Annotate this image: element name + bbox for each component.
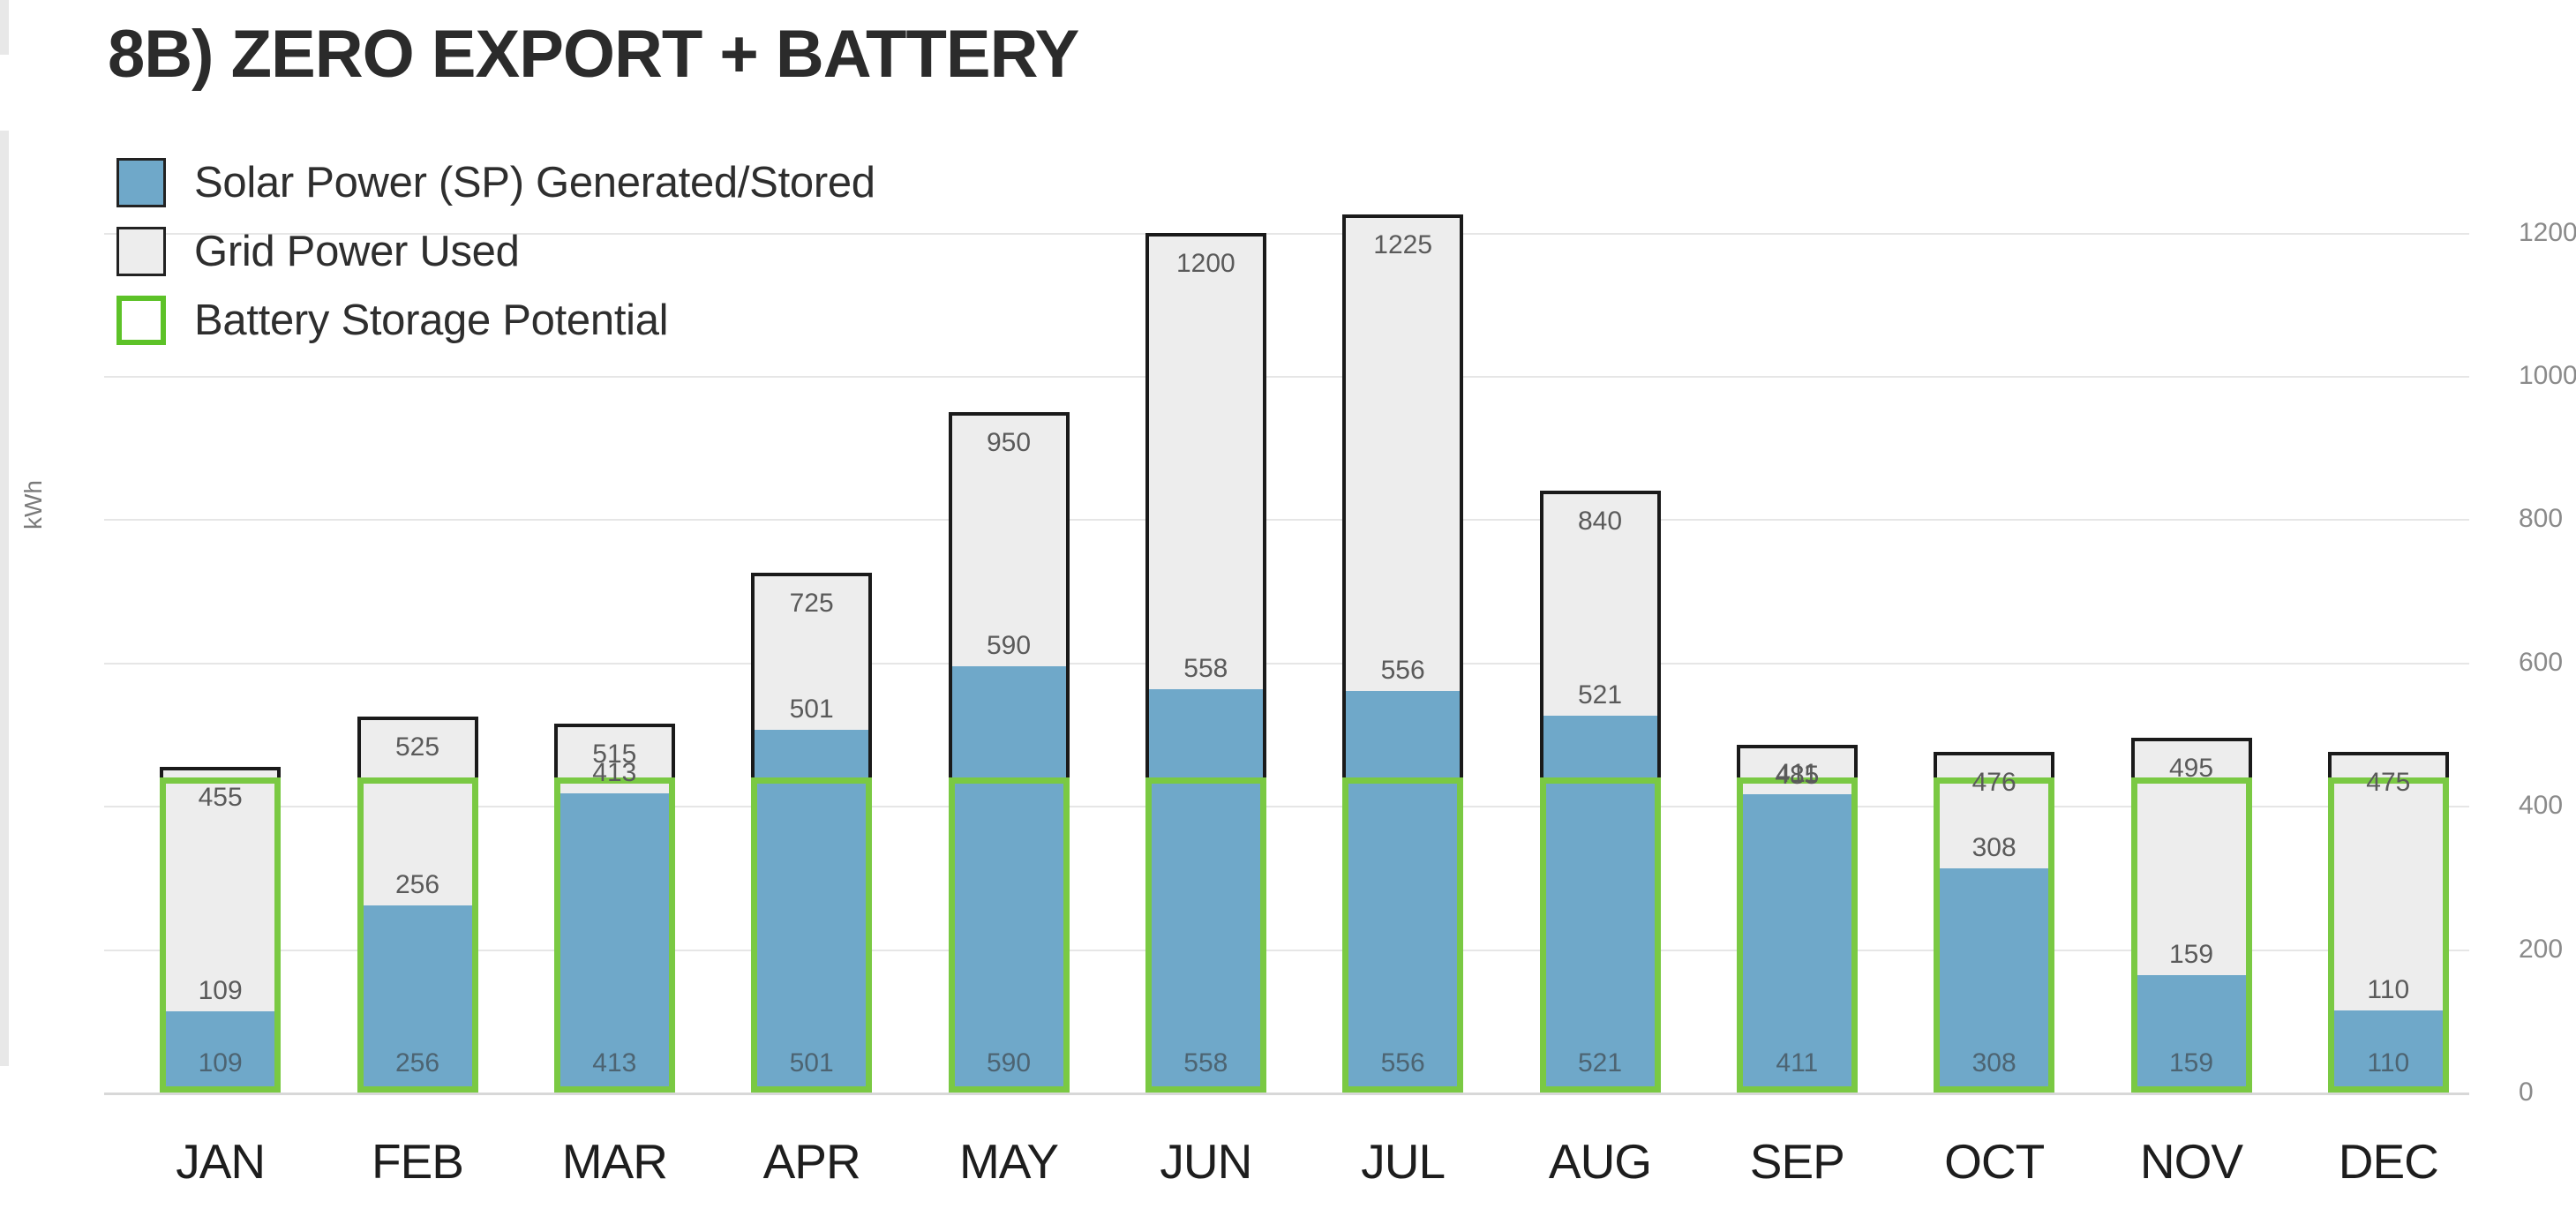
bar-segment-solar[interactable] — [558, 793, 672, 1089]
x-axis-label-aug: AUG — [1528, 1133, 1673, 1190]
bar-solar-label-bottom: 411 — [1740, 1048, 1854, 1078]
x-axis-label-mar: MAR — [542, 1133, 687, 1190]
battery-swatch-icon — [116, 296, 166, 345]
bar-total-label: 725 — [755, 589, 868, 619]
x-axis-label-jun: JUN — [1133, 1133, 1279, 1190]
bar-total-label: 476 — [1937, 768, 2051, 798]
bar-segment-solar[interactable] — [952, 666, 1066, 1089]
bar-solar-label-top: 110 — [2332, 975, 2445, 1005]
bar-total-label: 525 — [361, 732, 475, 762]
bar-group-may[interactable]: 950590590MAY — [949, 412, 1070, 1093]
y-tick-label-0: 0 — [2519, 1078, 2534, 1108]
legend-label-solar: Solar Power (SP) Generated/Stored — [194, 158, 875, 207]
bar-group-jan[interactable]: 455109109JAN — [160, 767, 281, 1093]
edge-rule-mid — [0, 131, 9, 1066]
x-axis-label-may: MAY — [936, 1133, 1082, 1190]
chart-legend: Solar Power (SP) Generated/Stored Grid P… — [116, 148, 875, 355]
bar-stack[interactable]: 525256256 — [357, 717, 478, 1093]
bar-segment-solar[interactable] — [1740, 794, 1854, 1089]
bar-segment-solar[interactable] — [755, 730, 868, 1089]
bar-total-label: 475 — [2332, 768, 2445, 798]
bar-solar-label-bottom: 413 — [558, 1048, 672, 1078]
bar-solar-label-bottom: 590 — [952, 1048, 1066, 1078]
bar-total-label: 1200 — [1149, 249, 1263, 279]
x-axis-label-jul: JUL — [1330, 1133, 1476, 1190]
x-axis-label-jan: JAN — [147, 1133, 293, 1190]
bar-solar-label-top: 109 — [163, 976, 277, 1006]
bar-stack[interactable]: 515413413 — [554, 724, 675, 1093]
y-tick-label-800: 800 — [2519, 504, 2563, 534]
bar-solar-label-bottom: 159 — [2135, 1048, 2249, 1078]
bar-group-dec[interactable]: 475110110DEC — [2328, 752, 2449, 1093]
y-axis-label: kWh — [19, 480, 48, 529]
y-tick-label-1200: 1200 — [2519, 218, 2576, 248]
x-axis-label-nov: NOV — [2119, 1133, 2264, 1190]
x-axis-label-feb: FEB — [345, 1133, 491, 1190]
legend-item-grid[interactable]: Grid Power Used — [116, 217, 875, 286]
bar-group-apr[interactable]: 725501501APR — [751, 573, 872, 1093]
bar-solar-label-bottom: 109 — [163, 1048, 277, 1078]
y-tick-label-200: 200 — [2519, 935, 2563, 965]
y-tick-label-400: 400 — [2519, 791, 2563, 821]
bar-stack[interactable]: 475110110 — [2328, 752, 2449, 1093]
bar-solar-label-bottom: 501 — [755, 1048, 868, 1078]
bar-solar-label-top: 556 — [1346, 656, 1460, 686]
x-axis-label-apr: APR — [739, 1133, 884, 1190]
bar-solar-label-bottom: 308 — [1937, 1048, 2051, 1078]
solar-swatch-icon — [116, 158, 166, 207]
bar-stack[interactable]: 950590590 — [949, 412, 1070, 1093]
bar-total-label: 455 — [163, 783, 277, 813]
bar-stack[interactable]: 840521521 — [1540, 491, 1661, 1093]
bar-group-oct[interactable]: 476308308OCT — [1934, 752, 2054, 1093]
bar-solar-label-top: 558 — [1149, 654, 1263, 684]
bar-segment-solar[interactable] — [1543, 716, 1657, 1089]
bar-solar-label-bottom: 256 — [361, 1048, 475, 1078]
x-axis-label-sep: SEP — [1724, 1133, 1870, 1190]
bar-group-mar[interactable]: 515413413MAR — [554, 724, 675, 1093]
bar-solar-label-top: 501 — [755, 695, 868, 725]
bar-stack[interactable]: 495159159 — [2131, 738, 2252, 1093]
y-tick-label-1000: 1000 — [2519, 361, 2576, 391]
y-tick-label-600: 600 — [2519, 648, 2563, 678]
legend-item-battery[interactable]: Battery Storage Potential — [116, 286, 875, 355]
bar-solar-label-bottom: 556 — [1346, 1048, 1460, 1078]
x-axis-label-oct: OCT — [1921, 1133, 2067, 1190]
bar-stack[interactable]: 485411411 — [1737, 745, 1858, 1093]
bar-total-label: 950 — [952, 428, 1066, 458]
legend-item-solar[interactable]: Solar Power (SP) Generated/Stored — [116, 148, 875, 217]
bar-solar-label-top: 413 — [558, 758, 672, 788]
bar-segment-solar[interactable] — [1346, 691, 1460, 1089]
bar-stack[interactable]: 725501501 — [751, 573, 872, 1093]
bar-solar-label-bottom: 110 — [2332, 1048, 2445, 1078]
page-title: 8B) ZERO EXPORT + BATTERY — [108, 16, 1078, 93]
bar-stack[interactable]: 455109109 — [160, 767, 281, 1093]
bar-solar-label-top: 411 — [1740, 759, 1854, 789]
bar-group-sep[interactable]: 485411411SEP — [1737, 745, 1858, 1093]
legend-label-battery: Battery Storage Potential — [194, 296, 668, 345]
chart-slide: 8B) ZERO EXPORT + BATTERY Solar Power (S… — [0, 0, 2576, 1209]
bar-solar-label-top: 159 — [2135, 940, 2249, 970]
bar-solar-label-top: 521 — [1543, 680, 1657, 710]
bar-total-label: 1225 — [1346, 230, 1460, 260]
bar-segment-solar[interactable] — [1149, 689, 1263, 1089]
bar-group-jun[interactable]: 1200558558JUN — [1145, 233, 1266, 1093]
bar-solar-label-bottom: 521 — [1543, 1048, 1657, 1078]
bar-group-nov[interactable]: 495159159NOV — [2131, 738, 2252, 1093]
bar-total-label: 840 — [1543, 507, 1657, 537]
bar-group-jul[interactable]: 1225556556JUL — [1342, 214, 1463, 1093]
bar-solar-label-bottom: 558 — [1149, 1048, 1263, 1078]
bar-stack[interactable]: 1200558558 — [1145, 233, 1266, 1093]
bar-solar-label-top: 590 — [952, 631, 1066, 661]
bar-total-label: 495 — [2135, 754, 2249, 784]
grid-swatch-icon — [116, 227, 166, 276]
x-axis-label-dec: DEC — [2316, 1133, 2461, 1190]
bar-stack[interactable]: 476308308 — [1934, 752, 2054, 1093]
bar-group-aug[interactable]: 840521521AUG — [1540, 491, 1661, 1093]
legend-label-grid: Grid Power Used — [194, 227, 520, 276]
edge-rule-top — [0, 0, 9, 55]
bar-solar-label-top: 256 — [361, 870, 475, 900]
bar-stack[interactable]: 1225556556 — [1342, 214, 1463, 1093]
bar-solar-label-top: 308 — [1937, 833, 2051, 863]
bar-group-feb[interactable]: 525256256FEB — [357, 717, 478, 1093]
